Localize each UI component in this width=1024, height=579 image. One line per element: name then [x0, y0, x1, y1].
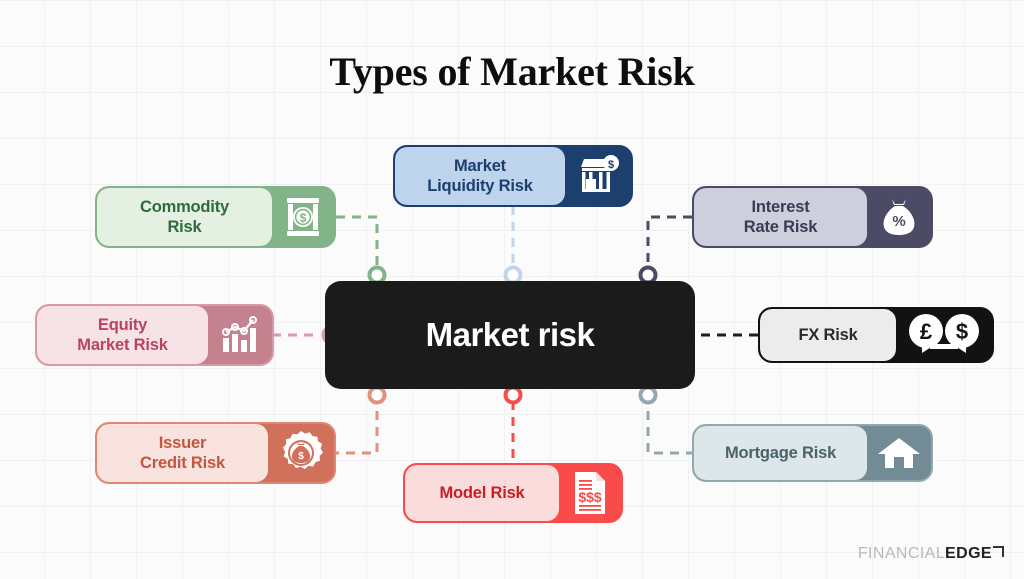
card-label-line1-fx-risk: FX Risk — [798, 326, 857, 344]
card-body-mortgage-risk: Mortgage Risk — [694, 426, 867, 480]
card-label-line1-model-risk: Model Risk — [439, 484, 524, 502]
connector-dot-issuer-credit-risk — [370, 388, 385, 403]
connector-issuer-credit-risk — [336, 395, 377, 453]
connector-interest-rate-risk — [648, 217, 692, 275]
card-body-fx-risk: FX Risk — [760, 309, 896, 361]
connector-commodity-risk — [336, 217, 377, 275]
connector-dot-mortgage-risk — [641, 388, 656, 403]
card-body-interest-rate-risk: Interest Rate Risk — [694, 188, 867, 246]
logo-text-financial: FINANCIAL — [858, 545, 945, 563]
card-commodity-risk[interactable]: Commodity Risk $ — [95, 186, 336, 248]
connector-dot-model-risk — [506, 388, 521, 403]
card-label-line1-market-liquidity-risk: Market — [454, 157, 506, 175]
connector-mortgage-risk — [648, 395, 692, 453]
card-interest-rate-risk[interactable]: Interest Rate Risk % — [692, 186, 933, 248]
currency-exchange-icon: £ $ — [896, 309, 992, 361]
card-label-line2-market-liquidity-risk: Liquidity Risk — [427, 177, 532, 195]
central-node-market-risk[interactable]: Market risk — [325, 281, 695, 389]
gear-money-bag-icon: $ — [268, 424, 334, 482]
card-label-line2-equity-market-risk: Market Risk — [77, 336, 167, 354]
card-body-issuer-credit-risk: Issuer Credit Risk — [97, 424, 268, 482]
card-body-model-risk: Model Risk — [405, 465, 559, 521]
svg-text:$: $ — [298, 451, 304, 462]
card-body-equity-market-risk: Equity Market Risk — [37, 306, 208, 364]
card-fx-risk[interactable]: FX Risk £ $ — [758, 307, 994, 363]
document-dollars-icon: $$$ — [559, 465, 621, 521]
central-node-label: Market risk — [426, 316, 595, 354]
diagram-canvas: Types of Market Risk Market risk — [0, 0, 1024, 579]
card-label-line2-interest-rate-risk: Rate Risk — [744, 218, 817, 236]
svg-text:$: $ — [956, 319, 968, 344]
card-label-line2-commodity-risk: Risk — [167, 218, 201, 236]
svg-text:£: £ — [920, 319, 933, 344]
card-label-line1-issuer-credit-risk: Issuer — [159, 434, 206, 452]
card-equity-market-risk[interactable]: Equity Market Risk — [35, 304, 274, 366]
money-bag-percent-icon: % — [867, 188, 931, 246]
brand-logo: FINANCIALEDGE — [858, 545, 1004, 563]
svg-text:$: $ — [608, 159, 614, 171]
storefront-dollar-icon: $ — [565, 147, 631, 205]
card-model-risk[interactable]: Model Risk $$$ — [403, 463, 623, 523]
svg-text:%: % — [892, 213, 905, 230]
card-mortgage-risk[interactable]: Mortgage Risk — [692, 424, 933, 482]
card-label-line2-issuer-credit-risk: Credit Risk — [140, 454, 225, 472]
card-body-market-liquidity-risk: Market Liquidity Risk — [395, 147, 565, 205]
card-label-line1-mortgage-risk: Mortgage Risk — [725, 444, 836, 462]
logo-text-edge: EDGE — [945, 545, 992, 563]
card-label-line1-commodity-risk: Commodity — [140, 198, 229, 216]
oil-barrel-dollar-icon: $ — [272, 188, 334, 246]
card-issuer-credit-risk[interactable]: Issuer Credit Risk $ — [95, 422, 336, 484]
bar-chart-trend-icon — [208, 306, 272, 364]
svg-text:$: $ — [300, 211, 307, 225]
card-body-commodity-risk: Commodity Risk — [97, 188, 272, 246]
house-icon — [867, 426, 931, 480]
svg-text:$$$: $$$ — [578, 489, 602, 505]
corner-mark-icon — [993, 546, 1004, 557]
card-label-line1-equity-market-risk: Equity — [98, 316, 147, 334]
card-label-line1-interest-rate-risk: Interest — [751, 198, 809, 216]
card-market-liquidity-risk[interactable]: Market Liquidity Risk $ — [393, 145, 633, 207]
